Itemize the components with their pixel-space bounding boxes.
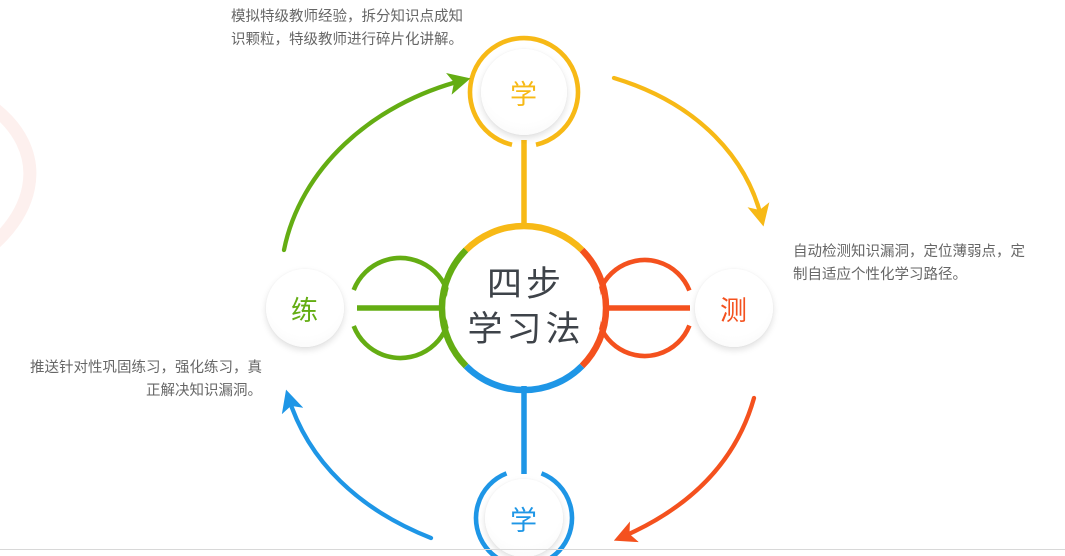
- node-top[interactable]: 学: [481, 49, 567, 135]
- node-bottom[interactable]: 学: [485, 479, 563, 556]
- node-top-label: 学: [510, 73, 538, 112]
- node-left[interactable]: 练: [266, 269, 344, 347]
- arrow-right-to-bottom: [620, 398, 754, 538]
- node-right-label: 测: [720, 289, 748, 328]
- center-line-1: 四步: [483, 263, 565, 308]
- caption-right: 自动检测知识漏洞，定位薄弱点，定 制自适应个性化学习路径。: [793, 241, 1065, 287]
- arrow-left-to-top: [284, 80, 464, 250]
- node-right[interactable]: 测: [695, 269, 773, 347]
- caption-left: 推送针对性巩固练习，强化练习，真 正解决知识漏洞。: [0, 357, 262, 403]
- center-label: 四步 学习法: [446, 230, 602, 386]
- bottom-divider: [0, 549, 1065, 550]
- node-left-label: 练: [291, 289, 319, 328]
- arrow-top-to-right: [614, 78, 762, 220]
- center-line-2: 学习法: [463, 308, 584, 353]
- arrow-bottom-to-left: [288, 396, 431, 538]
- node-bottom-label: 学: [510, 499, 538, 538]
- diagram-canvas: 四步 学习法 学 测 学 练 模拟特级教师经验，拆分知识点成知 识颗粒，特级教师…: [0, 0, 1065, 556]
- caption-top: 模拟特级教师经验，拆分知识点成知 识颗粒，特级教师进行碎片化讲解。: [231, 6, 521, 52]
